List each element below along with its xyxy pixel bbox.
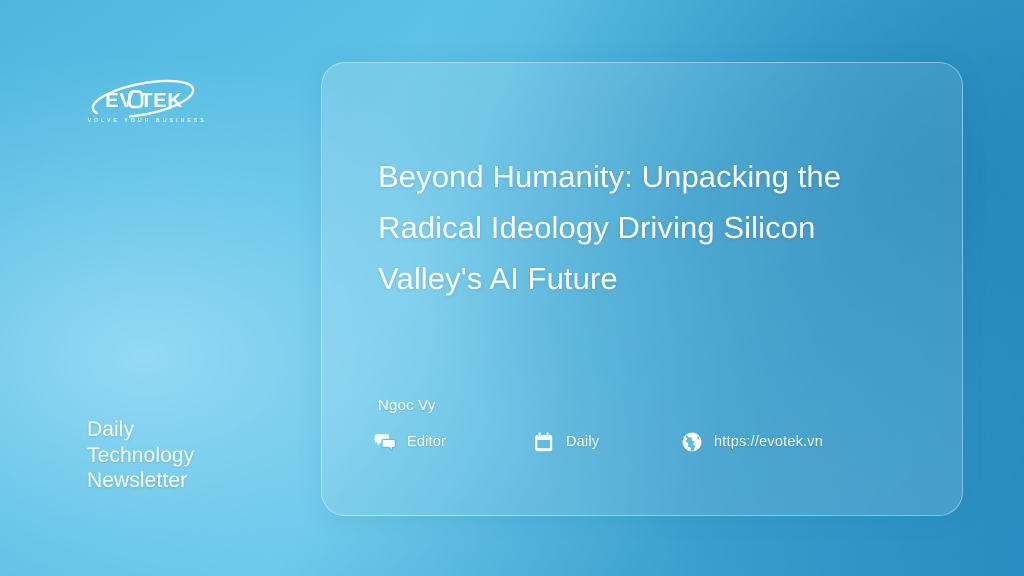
evotek-logo[interactable]: EV TEK EVOLVE YOUR BUSINESS (86, 76, 206, 130)
meta-label-role: Editor (407, 434, 446, 450)
newsletter-kicker: Daily Technology Newsletter (87, 417, 287, 494)
article-meta-row: Editor Daily (374, 425, 934, 459)
article-card: Beyond Humanity: Unpacking the Radical I… (321, 62, 963, 516)
author-name: Ngoc Vy (378, 397, 436, 414)
kicker-line-2: Technology (87, 443, 287, 469)
meta-item-frequency[interactable]: Daily (533, 425, 599, 459)
kicker-line-1: Daily (87, 417, 287, 443)
kicker-line-3: Newsletter (87, 468, 287, 494)
chat-bubbles-icon (374, 431, 396, 453)
calendar-icon (533, 431, 555, 453)
meta-label-website: https://evotek.vn (714, 434, 823, 450)
meta-item-website[interactable]: https://evotek.vn (681, 425, 823, 459)
newsletter-slide: EV TEK EVOLVE YOUR BUSINESS Daily Techno… (0, 0, 1024, 576)
article-title: Beyond Humanity: Unpacking the Radical I… (378, 151, 898, 304)
svg-text:EV TEK: EV TEK (105, 89, 183, 112)
svg-text:EVOLVE YOUR BUSINESS: EVOLVE YOUR BUSINESS (86, 118, 206, 124)
globe-icon (681, 431, 703, 453)
meta-label-frequency: Daily (566, 434, 599, 450)
meta-item-role[interactable]: Editor (374, 425, 446, 459)
